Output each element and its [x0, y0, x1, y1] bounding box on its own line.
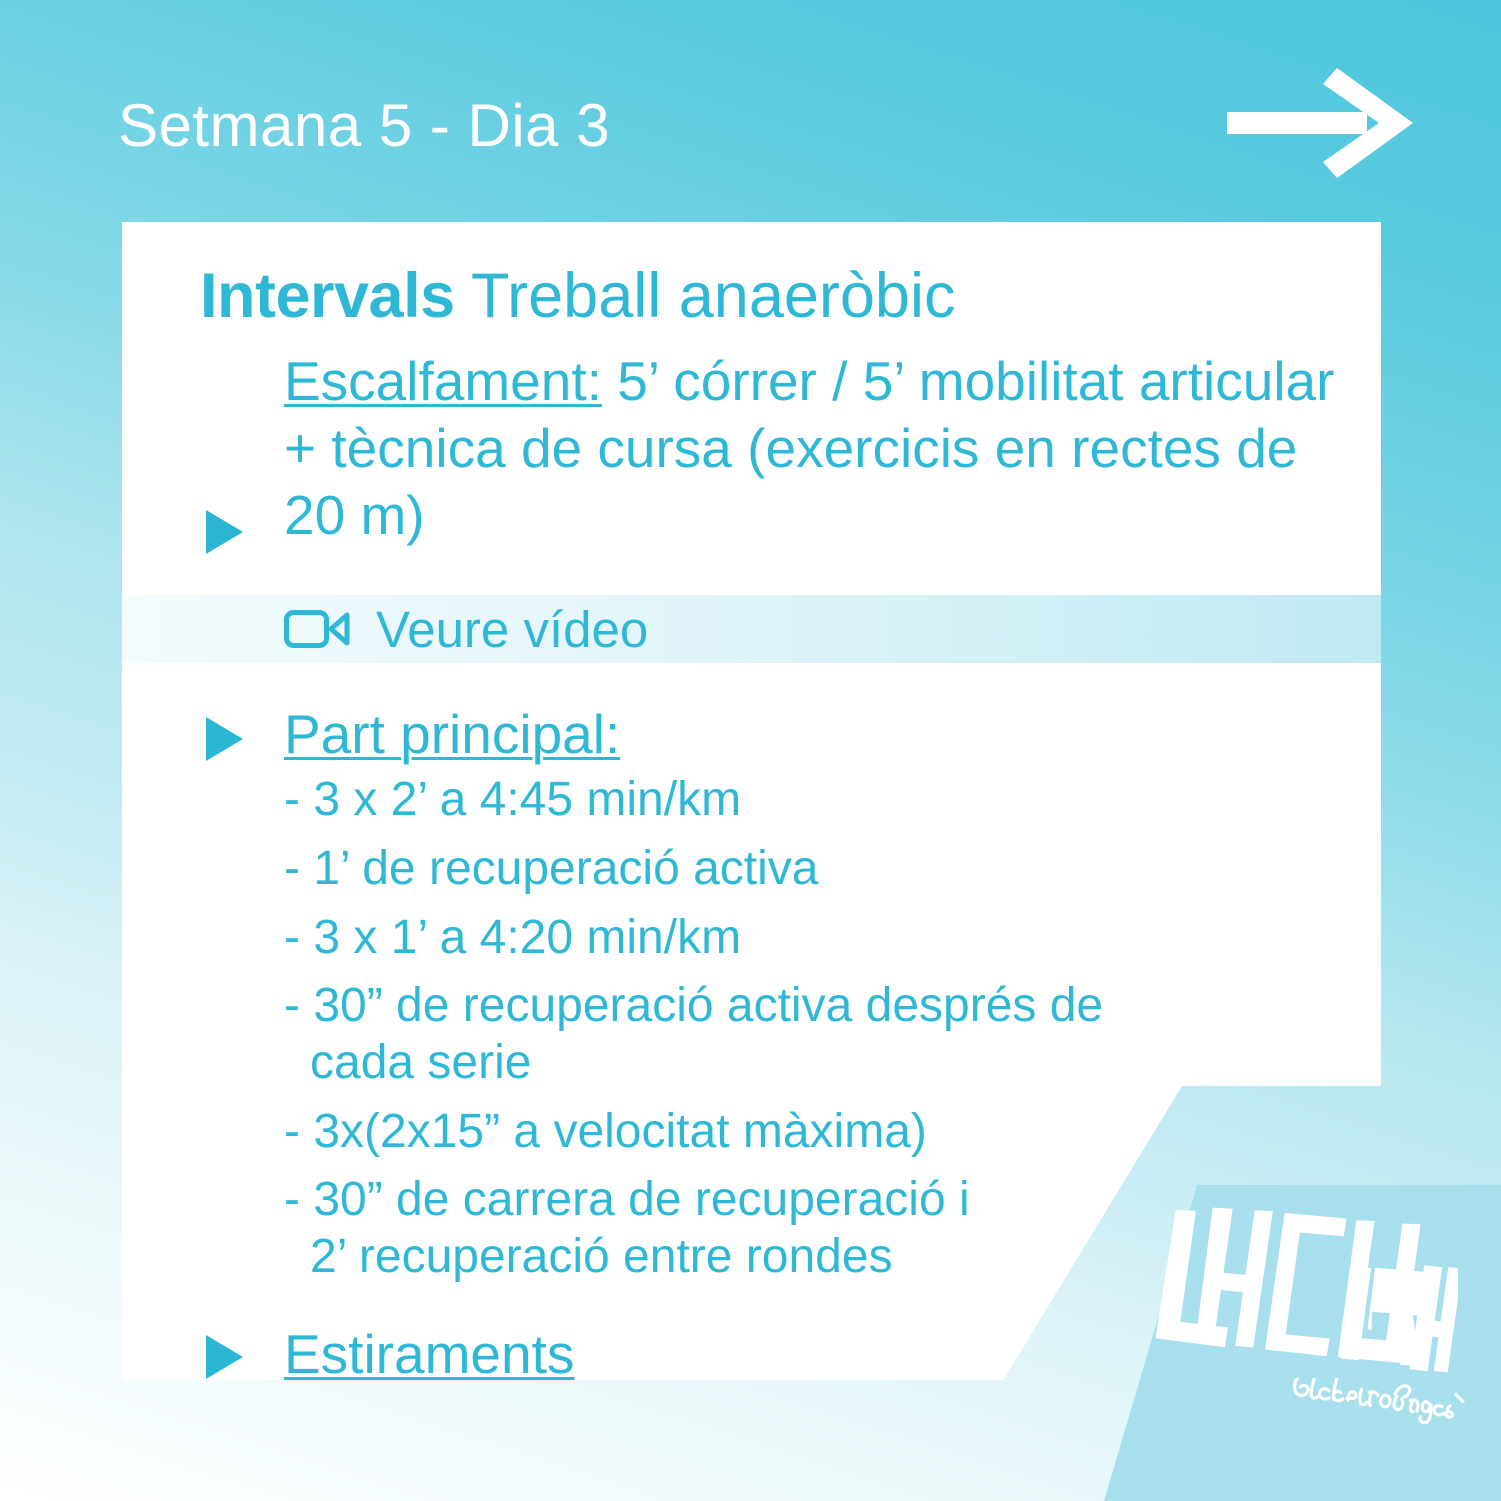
- list-item: - 30” de recuperació activa després de c…: [284, 978, 1361, 1091]
- workout-title-strong: Intervals: [200, 261, 455, 331]
- lacursa-wordmark-icon: [1138, 1200, 1458, 1390]
- section-main-label: Part principal:: [284, 703, 620, 765]
- page-title: Setmana 5 - Dia 3: [118, 96, 610, 156]
- section-warmup-text: Escalfament: 5’ córrer / 5’ mobilitat ar…: [200, 348, 1361, 549]
- video-link-row[interactable]: Veure vídeo: [122, 595, 1381, 663]
- section-warmup-label: Escalfament:: [284, 350, 602, 412]
- arrow-right-icon[interactable]: [1227, 62, 1413, 184]
- list-item: - 3 x 1’ a 4:20 min/km: [284, 910, 1361, 967]
- section-warmup: Escalfament: 5’ córrer / 5’ mobilitat ar…: [122, 348, 1381, 549]
- triangle-right-icon: [206, 1335, 243, 1379]
- workout-title: Intervals Treball anaeròbic: [122, 222, 1381, 330]
- brand-logo: [1138, 1200, 1478, 1450]
- header: Setmana 5 - Dia 3: [0, 0, 1501, 222]
- triangle-right-icon: [206, 510, 243, 554]
- el-corte-ingles-signature-icon: [1290, 1378, 1470, 1426]
- section-stretching-label: Estiraments: [284, 1323, 574, 1385]
- workout-title-rest: Treball anaeròbic: [455, 261, 956, 331]
- list-item: - 1’ de recuperació activa: [284, 841, 1361, 898]
- video-link-inner[interactable]: Veure vídeo: [122, 604, 648, 655]
- video-link-label[interactable]: Veure vídeo: [376, 604, 648, 655]
- list-item: - 3x(2x15” a velocitat màxima): [284, 1104, 1361, 1161]
- video-camera-icon[interactable]: [284, 608, 350, 650]
- triangle-right-icon: [206, 717, 243, 761]
- list-item: - 3 x 2’ a 4:45 min/km: [284, 772, 1361, 829]
- section-main-text: Part principal:: [200, 701, 1361, 768]
- section-main: Part principal: - 3 x 2’ a 4:45 min/km -…: [122, 701, 1381, 1285]
- slide-root: Setmana 5 - Dia 3 Intervals Treball anae…: [0, 0, 1501, 1501]
